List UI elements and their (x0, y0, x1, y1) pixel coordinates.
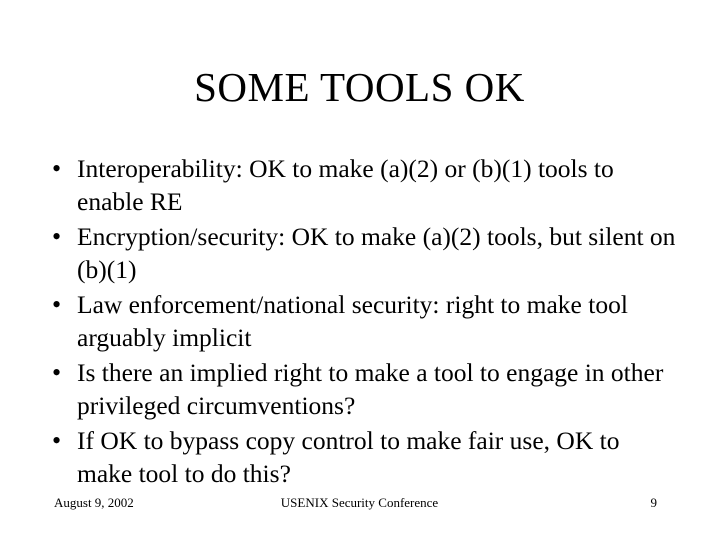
list-item: • Is there an implied right to make a to… (52, 356, 677, 422)
footer-conference-name: USENIX Security Conference (0, 492, 719, 514)
list-item-text: Encryption/security: OK to make (a)(2) t… (77, 220, 677, 286)
bullet-icon: • (52, 152, 77, 185)
list-item: • Interoperability: OK to make (a)(2) or… (52, 152, 677, 218)
bullet-icon: • (52, 220, 77, 253)
slide: SOME TOOLS OK • Interoperability: OK to … (0, 0, 719, 539)
footer-page-number: 9 (651, 492, 658, 514)
list-item-text: Law enforcement/national security: right… (77, 288, 677, 354)
list-item-text: Is there an implied right to make a tool… (77, 356, 677, 422)
bullet-icon: • (52, 288, 77, 321)
list-item: • If OK to bypass copy control to make f… (52, 424, 677, 490)
bullet-icon: • (52, 424, 77, 457)
list-item-text: If OK to bypass copy control to make fai… (77, 424, 677, 490)
bullet-icon: • (52, 356, 77, 389)
list-item-text: Interoperability: OK to make (a)(2) or (… (77, 152, 677, 218)
list-item: • Law enforcement/national security: rig… (52, 288, 677, 354)
slide-footer: August 9, 2002 USENIX Security Conferenc… (0, 492, 719, 514)
list-item: • Encryption/security: OK to make (a)(2)… (52, 220, 677, 286)
bullet-list: • Interoperability: OK to make (a)(2) or… (52, 152, 677, 492)
page-title: SOME TOOLS OK (0, 64, 719, 110)
